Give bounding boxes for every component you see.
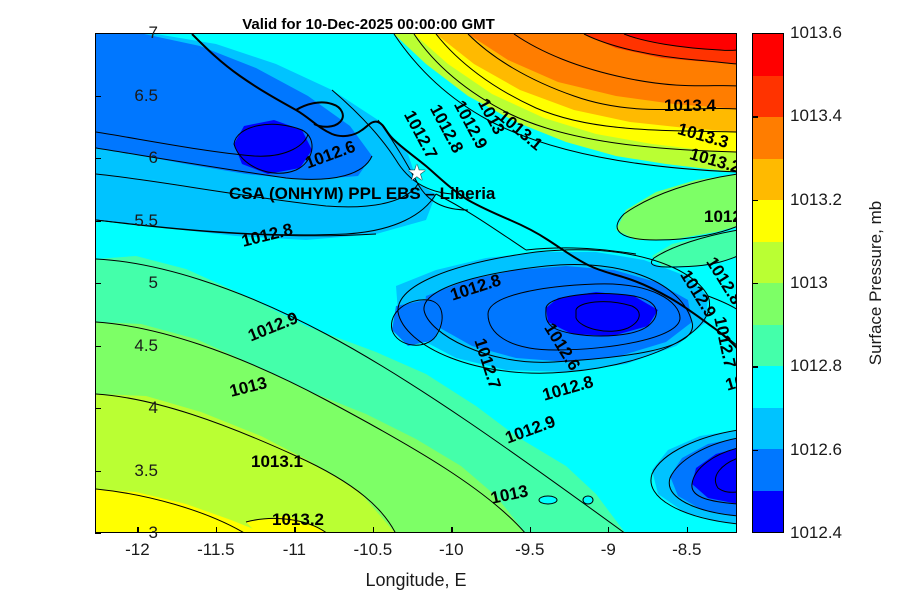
y-tick-mark xyxy=(95,346,101,347)
contour-label: 1013.2 xyxy=(272,510,324,530)
colorbar-tick-mark xyxy=(752,200,758,201)
colorbar-band xyxy=(753,117,783,159)
x-tick-label: -12 xyxy=(97,540,177,560)
x-tick-mark xyxy=(216,527,217,533)
colorbar-tick-label: 1012.8 xyxy=(790,356,842,376)
colorbar-band xyxy=(753,408,783,450)
colorbar-tick-mark xyxy=(752,450,758,451)
colorbar-band xyxy=(753,242,783,284)
x-tick-mark xyxy=(687,527,688,533)
y-tick-mark xyxy=(95,283,101,284)
y-tick-mark xyxy=(95,471,101,472)
colorbar-tick-label: 1013.6 xyxy=(790,23,842,43)
y-tick-label: 4.5 xyxy=(98,336,158,356)
y-tick-label: 5.5 xyxy=(98,211,158,231)
y-tick-mark xyxy=(95,158,101,159)
y-tick-label: 7 xyxy=(98,23,158,43)
x-tick-label: -10.5 xyxy=(333,540,413,560)
x-tick-label: -11 xyxy=(254,540,334,560)
y-tick-mark xyxy=(95,96,101,97)
colorbar-band xyxy=(753,76,783,118)
star-marker: ★ xyxy=(407,162,427,184)
x-tick-mark xyxy=(451,527,452,533)
contour-label: 1012.9 xyxy=(704,207,737,227)
colorbar-tick-mark xyxy=(752,116,758,117)
colorbar-tick-label: 1013.4 xyxy=(790,106,842,126)
colorbar-tick-mark xyxy=(752,283,758,284)
y-tick-mark xyxy=(95,33,101,34)
colorbar-band xyxy=(753,366,783,408)
x-tick-label: -11.5 xyxy=(176,540,256,560)
colorbar-band xyxy=(753,159,783,201)
colorbar-tick-label: 1012.6 xyxy=(790,440,842,460)
colorbar-band xyxy=(753,283,783,325)
x-axis-label: Longitude, E xyxy=(365,570,466,591)
y-tick-mark xyxy=(95,533,101,534)
x-tick-label: -8.5 xyxy=(647,540,727,560)
y-tick-label: 6 xyxy=(98,148,158,168)
site-annotation-label: CSA (ONHYM) PPL EBS – Liberia xyxy=(229,184,495,204)
colorbar-band xyxy=(753,491,783,533)
y-tick-label: 5 xyxy=(98,273,158,293)
x-tick-mark xyxy=(373,527,374,533)
y-tick-mark xyxy=(95,221,101,222)
y-tick-label: 4 xyxy=(98,398,158,418)
contour-plot-area[interactable]: 1012.61012.71012.81012.910131013.11013.4… xyxy=(95,33,737,533)
colorbar-tick-label: 1013.2 xyxy=(790,190,842,210)
x-tick-mark xyxy=(530,527,531,533)
y-tick-mark xyxy=(95,408,101,409)
x-tick-mark xyxy=(294,527,295,533)
colorbar-label: Surface Pressure, mb xyxy=(866,201,886,365)
colorbar-band xyxy=(753,200,783,242)
colorbar-tick-label: 1012.4 xyxy=(790,523,842,543)
x-tick-mark xyxy=(137,527,138,533)
colorbar-tick-mark xyxy=(752,366,758,367)
colorbar-band xyxy=(753,34,783,76)
colorbar-band xyxy=(753,449,783,491)
colorbar-tick-label: 1013 xyxy=(790,273,828,293)
x-tick-mark xyxy=(608,527,609,533)
figure-root: Valid for 10-Dec-2025 00:00:00 GMT xyxy=(0,0,900,600)
contour-label: 1013.4 xyxy=(664,96,716,116)
x-tick-label: -9.5 xyxy=(490,540,570,560)
x-tick-label: -10 xyxy=(411,540,491,560)
y-tick-label: 6.5 xyxy=(98,86,158,106)
contour-label: 1013.1 xyxy=(251,452,303,472)
x-tick-label: -9 xyxy=(568,540,648,560)
colorbar-band xyxy=(753,325,783,367)
y-tick-label: 3.5 xyxy=(98,461,158,481)
